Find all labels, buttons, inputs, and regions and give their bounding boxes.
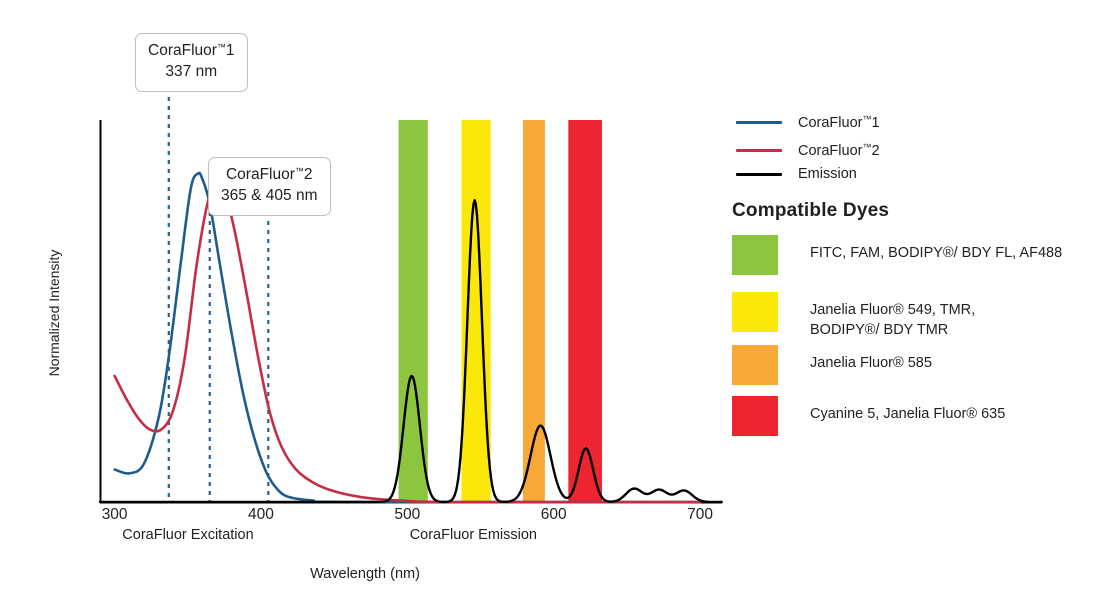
yellow-band — [461, 120, 490, 502]
x-tick-label-300: 300 — [85, 506, 145, 524]
spectra-figure: CoraFluor™1 337 nm CoraFluor™2 365 & 405… — [0, 0, 1110, 612]
callout-corafluor-1: CoraFluor™1 337 nm — [135, 33, 248, 92]
callout-cf1-title: CoraFluor™1 — [148, 41, 235, 62]
legend-and-dyes-panel: CoraFluor™1 CoraFluor™2 Emission Compati… — [728, 0, 1110, 612]
callout-cf2-title: CoraFluor™2 — [221, 165, 318, 186]
x-tick-label-600: 600 — [524, 506, 584, 524]
legend-label-emission: Emission — [798, 166, 857, 182]
dye-color-swatch-red — [732, 396, 778, 436]
chart-plot-area: CoraFluor™1 337 nm CoraFluor™2 365 & 405… — [0, 0, 730, 612]
callout-corafluor-2: CoraFluor™2 365 & 405 nm — [208, 157, 331, 216]
legend-line-swatch-corafluor-1 — [736, 121, 782, 124]
emission-bands-group — [399, 120, 602, 502]
dye-color-swatch-green — [732, 235, 778, 275]
legend-label-corafluor-2: CoraFluor™2 — [798, 142, 880, 159]
green-band — [399, 120, 428, 502]
dye-entry-yellow: Janelia Fluor® 549, TMR, BODIPY®/ BDY TM… — [732, 292, 975, 340]
x-tick-label-500: 500 — [377, 506, 437, 524]
dye-color-swatch-yellow — [732, 292, 778, 332]
dye-label-orange: Janelia Fluor® 585 — [810, 345, 932, 374]
x-tick-label-700: 700 — [670, 506, 730, 524]
compatible-dyes-title: Compatible Dyes — [732, 200, 889, 222]
dye-label-red: Cyanine 5, Janelia Fluor® 635 — [810, 396, 1005, 425]
red-band — [568, 120, 602, 502]
legend-item-emission: Emission — [736, 165, 857, 183]
legend-item-corafluor-1: CoraFluor™1 — [736, 113, 880, 131]
legend-line-swatch-corafluor-2 — [736, 149, 782, 152]
callout-cf2-value: 365 & 405 nm — [221, 186, 318, 207]
trademark-icon: ™ — [217, 42, 226, 52]
dye-color-swatch-orange — [732, 345, 778, 385]
x-axis-region-label-emission: CoraFluor Emission — [410, 527, 537, 543]
dye-label-yellow: Janelia Fluor® 549, TMR, BODIPY®/ BDY TM… — [810, 292, 975, 340]
y-axis-title: Normalized Intensity — [46, 223, 62, 403]
dye-entry-red: Cyanine 5, Janelia Fluor® 635 — [732, 396, 1005, 436]
dye-label-green: FITC, FAM, BODIPY®/ BDY FL, AF488 — [810, 235, 1062, 264]
dye-entry-green: FITC, FAM, BODIPY®/ BDY FL, AF488 — [732, 235, 1062, 275]
excitation-marker-lines-group — [169, 88, 269, 502]
x-axis-region-label-excitation: CoraFluor Excitation — [122, 527, 253, 543]
dye-entry-orange: Janelia Fluor® 585 — [732, 345, 932, 385]
x-tick-label-400: 400 — [231, 506, 291, 524]
callout-cf1-value: 337 nm — [148, 62, 235, 83]
trademark-icon: ™ — [295, 166, 304, 176]
legend-line-swatch-emission — [736, 173, 782, 176]
legend-item-corafluor-2: CoraFluor™2 — [736, 141, 880, 159]
x-axis-title: Wavelength (nm) — [0, 566, 730, 582]
legend-label-corafluor-1: CoraFluor™1 — [798, 114, 880, 131]
